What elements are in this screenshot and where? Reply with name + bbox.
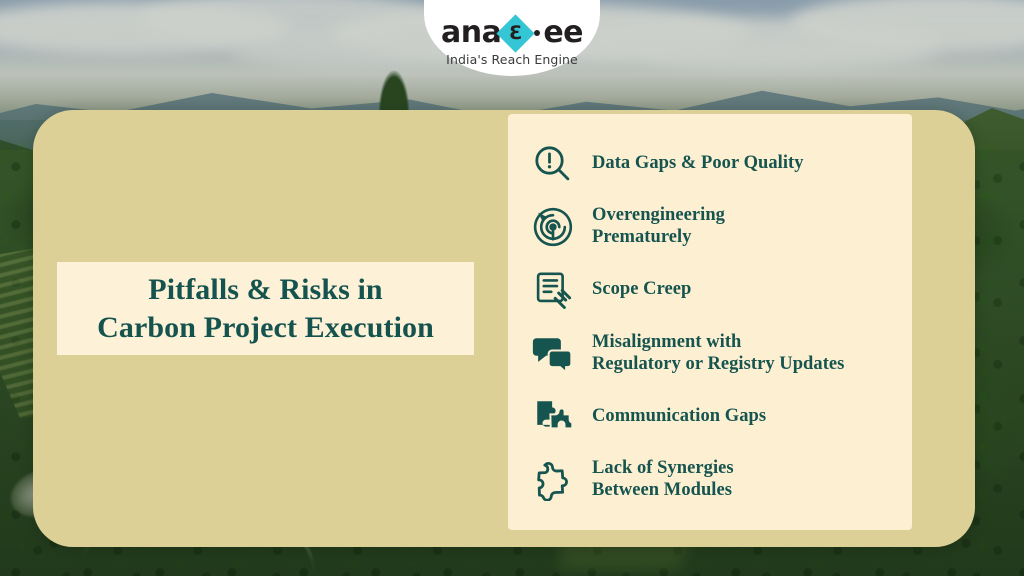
list-item[interactable]: Data Gaps & Poor Quality: [530, 138, 896, 190]
speech-bubbles-icon: [530, 331, 576, 377]
wordmark-prefix: ana: [441, 18, 501, 48]
list-item-label: Misalignment with Regulatory or Registry…: [592, 332, 844, 376]
brand-logo-badge[interactable]: ana Ɛ ee India's Reach Engine: [424, 0, 600, 76]
sigma-diamond-icon: Ɛ: [497, 14, 535, 52]
title-card: Pitfalls & Risks in Carbon Project Execu…: [57, 262, 474, 355]
list-item-label: Scope Creep: [592, 279, 691, 301]
risk-list-card: Data Gaps & Poor Quality Overengineering…: [508, 114, 912, 530]
slide-canvas: ana Ɛ ee India's Reach Engine Pitfalls &…: [0, 0, 1024, 576]
list-item[interactable]: Misalignment with Regulatory or Registry…: [530, 328, 896, 380]
list-item[interactable]: Lack of Synergies Between Modules: [530, 454, 896, 506]
magnifier-alert-icon: [530, 141, 576, 187]
list-item[interactable]: Scope Creep: [530, 264, 896, 316]
list-item[interactable]: Communication Gaps: [530, 391, 896, 443]
list-item-label: Data Gaps & Poor Quality: [592, 153, 804, 175]
list-item-label: Communication Gaps: [592, 406, 766, 428]
puzzle-piece-outline-icon: [530, 457, 576, 503]
brand-wordmark: ana Ɛ ee: [441, 18, 583, 48]
page-title: Pitfalls & Risks in Carbon Project Execu…: [97, 271, 434, 345]
document-gavel-icon: [530, 267, 576, 313]
list-item-label: Lack of Synergies Between Modules: [592, 458, 734, 502]
puzzle-pieces-filled-icon: [530, 394, 576, 440]
brand-tagline: India's Reach Engine: [446, 52, 578, 67]
wordmark-suffix: ee: [543, 18, 583, 48]
sigma-glyph: Ɛ: [502, 20, 529, 47]
maze-circle-icon: [530, 204, 576, 250]
list-item[interactable]: Overengineering Prematurely: [530, 201, 896, 253]
separator-dot-icon: [534, 30, 540, 36]
list-item-label: Overengineering Prematurely: [592, 205, 725, 249]
